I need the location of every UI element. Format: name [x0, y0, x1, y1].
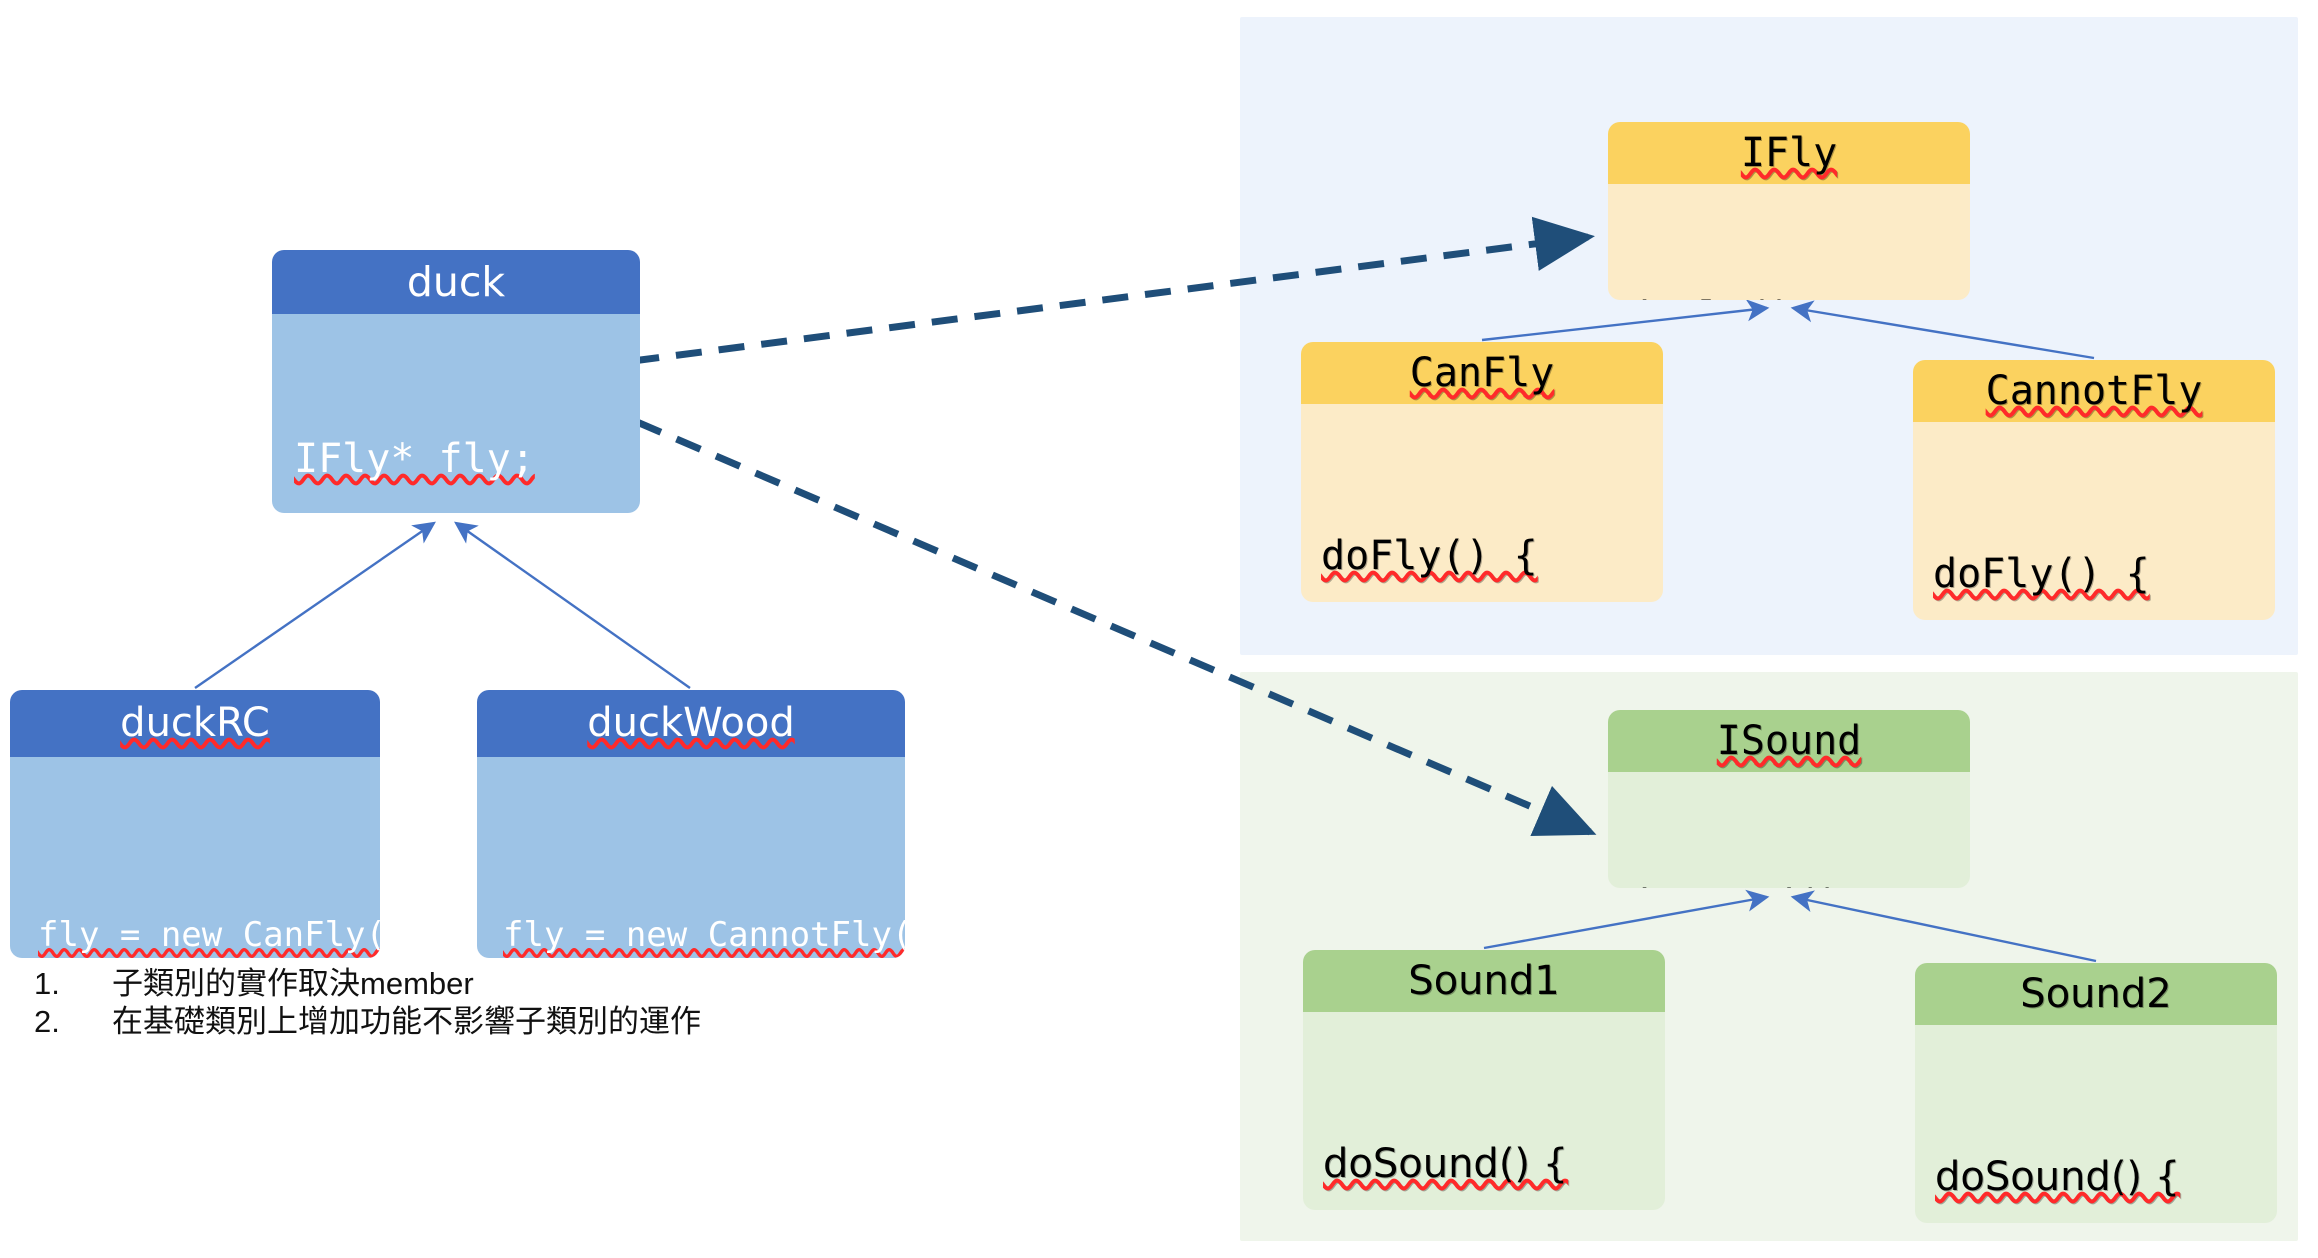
member-line-0: doSound() — [1626, 882, 1843, 888]
member-line-0: doSound() { — [1935, 1154, 2180, 1200]
member-line-0: IFly* fly; — [294, 436, 535, 482]
class-members-isound: doSound() … — [1608, 772, 1970, 888]
class-members-sound2: doSound() { “Sound2” } — [1915, 1025, 2277, 1223]
class-box-ifly[interactable]: IFly doFly() … — [1608, 122, 1970, 300]
class-title-duck: duck — [272, 250, 640, 314]
class-title-duckrc: duckRC — [10, 690, 380, 757]
class-members-duckwood: fly = new CannotFly() — [477, 757, 905, 958]
class-title-ifly: IFly — [1608, 122, 1970, 184]
class-title-duckwood: duckWood — [477, 690, 905, 757]
class-members-canfly: doFly() { “Can fly” } — [1301, 404, 1663, 602]
member-line-0: doSound() { — [1323, 1141, 1568, 1187]
class-members-cannotfly: doFly() { “Cannot fly” } — [1913, 422, 2275, 620]
class-members-sound1: doSound() { “Sound1” } — [1303, 1012, 1665, 1210]
class-box-duck[interactable]: duck IFly* fly; Isound* sound; … — [272, 250, 640, 513]
class-box-canfly[interactable]: CanFly doFly() { “Can fly” } — [1301, 342, 1663, 602]
class-box-sound1[interactable]: Sound1 doSound() { “Sound1” } — [1303, 950, 1665, 1210]
class-title-sound2: Sound2 — [1915, 963, 2277, 1025]
class-box-cannotfly[interactable]: CannotFly doFly() { “Cannot fly” } — [1913, 360, 2275, 620]
member-line-0: fly = new CanFly() — [38, 915, 380, 955]
list-item: 2. 在基礎類別上增加功能不影響子類別的運作 — [34, 1003, 794, 1041]
note-text: 子類別的實作取決member — [112, 965, 474, 1003]
member-line-0: doFly() — [1626, 294, 1795, 300]
class-members-ifly: doFly() … — [1608, 184, 1970, 300]
class-box-duckrc[interactable]: duckRC fly = new CanFly() — [10, 690, 380, 958]
note-text: 在基礎類別上增加功能不影響子類別的運作 — [112, 1003, 701, 1041]
class-box-sound2[interactable]: Sound2 doSound() { “Sound2” } — [1915, 963, 2277, 1223]
note-number: 2. — [34, 1003, 112, 1041]
class-title-sound1: Sound1 — [1303, 950, 1665, 1012]
connector-duckwood-to-duck — [456, 523, 690, 688]
member-line-0: doFly() { — [1933, 551, 2150, 597]
note-number: 1. — [34, 965, 112, 1003]
class-members-duck: IFly* fly; Isound* sound; … — [272, 314, 640, 513]
connector-duckrc-to-duck — [195, 523, 434, 688]
class-title-cannotfly: CannotFly — [1913, 360, 2275, 422]
member-line-0: doFly() { — [1321, 533, 1538, 579]
notes-list: 1. 子類別的實作取決member 2. 在基礎類別上增加功能不影響子類別的運作 — [34, 965, 794, 1041]
class-box-duckwood[interactable]: duckWood fly = new CannotFly() — [477, 690, 905, 958]
diagram-canvas: duck IFly* fly; Isound* sound; … duckRC … — [0, 0, 2318, 1258]
class-title-isound: ISound — [1608, 710, 1970, 772]
class-members-duckrc: fly = new CanFly() — [10, 757, 380, 958]
list-item: 1. 子類別的實作取決member — [34, 965, 794, 1003]
class-box-isound[interactable]: ISound doSound() … — [1608, 710, 1970, 888]
class-title-canfly: CanFly — [1301, 342, 1663, 404]
member-line-0: fly = new CannotFly() — [503, 915, 905, 955]
